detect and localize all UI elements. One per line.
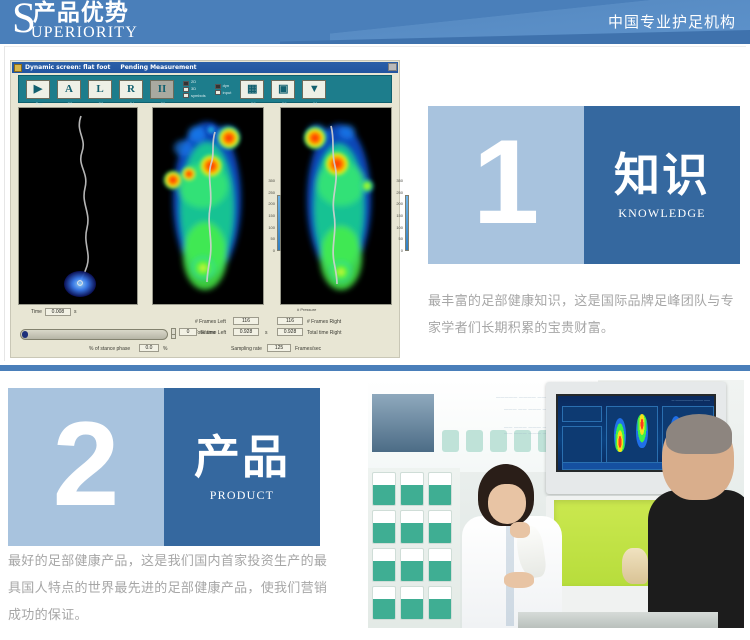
scale-tick: 150 bbox=[268, 214, 275, 218]
poster-figure bbox=[442, 430, 459, 452]
card-number-block: 2 bbox=[8, 388, 164, 546]
view-mode-labels: 2D 3D symbols bbox=[191, 79, 206, 99]
scale-ticks-left: 350 250 200 150 100 50 0 bbox=[268, 179, 275, 253]
frames-left-label: # Frames Left bbox=[195, 319, 226, 325]
input-mode-radios[interactable] bbox=[215, 84, 221, 95]
radio-dyn[interactable] bbox=[215, 84, 221, 89]
toolbar-fkey-label: F3 bbox=[89, 101, 113, 106]
radio-input[interactable] bbox=[215, 90, 221, 95]
card-title-cn: 产品 bbox=[194, 432, 290, 482]
close-icon[interactable] bbox=[388, 63, 397, 71]
page-root: S 产品优势 UPERIORITY 中国专业护足机构 Dynamic scree… bbox=[0, 0, 750, 640]
radio-3d[interactable] bbox=[183, 87, 189, 92]
frame-slider[interactable] bbox=[20, 329, 168, 340]
toolbar-button-save[interactable]: ▣ F9 bbox=[271, 80, 295, 99]
scale-tick: 250 bbox=[396, 191, 403, 195]
frames-right-label: # Frames Right bbox=[307, 319, 341, 325]
scale-tick: 50 bbox=[399, 237, 403, 241]
section-knowledge: Dynamic screen: flat foot Pending Measur… bbox=[0, 48, 750, 360]
photo-customer bbox=[652, 416, 744, 628]
save-icon: ▣ bbox=[278, 84, 288, 95]
scale-tick: 350 bbox=[396, 179, 403, 183]
scale-bar-left bbox=[277, 195, 281, 251]
photo-customer-body bbox=[648, 490, 744, 628]
stance-phase-field[interactable]: 0.0 bbox=[139, 344, 159, 352]
toolbar-button-right-foot[interactable]: R F4 bbox=[119, 80, 143, 99]
toolbar-button-help[interactable]: ▼ F1 bbox=[302, 80, 326, 99]
right-foot-heatmap bbox=[281, 108, 392, 305]
total-time-left-field[interactable]: 0.928 bbox=[233, 328, 259, 336]
cursor-icon: ▶ bbox=[34, 84, 42, 95]
app-title-bar: Dynamic screen: flat foot Pending Measur… bbox=[12, 62, 398, 73]
page-header: S 产品优势 UPERIORITY 中国专业护足机构 bbox=[0, 0, 750, 44]
scale-tick: 50 bbox=[271, 237, 275, 241]
scale-tick: 100 bbox=[268, 226, 275, 230]
poster-image bbox=[372, 394, 434, 452]
scale-tick: 200 bbox=[396, 202, 403, 206]
cop-trajectory-graphic bbox=[19, 108, 138, 305]
help-icon: ▼ bbox=[309, 84, 320, 95]
left-foot-icon: L bbox=[96, 84, 103, 95]
logo-title-cn: 产品优势 bbox=[33, 1, 138, 25]
frame-spinner[interactable] bbox=[171, 328, 176, 339]
sampling-rate-field[interactable]: 125 bbox=[267, 344, 291, 352]
feature-card-knowledge: 1 知识 KNOWLEDGE bbox=[428, 106, 740, 264]
store-consultation-photo: ————— ———— —— ——— —— ——— ——— —— ——— ——— … bbox=[368, 380, 744, 628]
pressure-scale-left: 350 250 200 150 100 50 0 bbox=[259, 179, 281, 257]
toolbar-fkey-label: F1 bbox=[303, 101, 327, 106]
left-foot-heatmap bbox=[153, 108, 264, 305]
scale-tick: 100 bbox=[396, 226, 403, 230]
pressure-scale-right: 350 250 200 150 100 50 0 bbox=[387, 179, 409, 257]
scale-ticks-right: 350 250 200 150 100 50 0 bbox=[396, 179, 403, 253]
scale-tick: 250 bbox=[268, 191, 275, 195]
frame-slider-knob[interactable] bbox=[22, 331, 28, 338]
photo-foot-model bbox=[622, 548, 648, 584]
card-number: 1 bbox=[473, 122, 540, 242]
scale-tick: 0 bbox=[273, 249, 275, 253]
card-title-block: 知识 KNOWLEDGE bbox=[584, 106, 740, 264]
card-title-en: PRODUCT bbox=[210, 488, 274, 503]
toolbar-button-report[interactable]: ▦ F8 bbox=[240, 80, 264, 99]
toolbar-fkey-label: F5 bbox=[151, 101, 175, 106]
logo-text-stack: 产品优势 UPERIORITY bbox=[33, 1, 138, 41]
content-top-rule bbox=[4, 46, 746, 47]
all-feet-icon: A bbox=[65, 84, 73, 95]
scale-tick: 150 bbox=[396, 214, 403, 218]
stance-phase-unit: % bbox=[163, 346, 167, 352]
app-toolbar: ▶ Esc A F2 L F3 R F4 II F5 bbox=[18, 75, 392, 103]
frames-left-field[interactable]: 116 bbox=[233, 317, 259, 325]
radio-label-input: input bbox=[223, 90, 232, 96]
scale-tick: 200 bbox=[268, 202, 275, 206]
card-description-product: 最好的足部健康产品，这是我们国内首家投资生产的最具国人特点的世界最先进的足部健康… bbox=[8, 548, 338, 629]
feature-card-product: 2 产品 PRODUCT bbox=[8, 388, 320, 546]
radio-label-3d: 3D bbox=[191, 86, 206, 92]
toolbar-fkey-label: F2 bbox=[58, 101, 82, 106]
time-readout: Time 0.008 s bbox=[31, 307, 141, 316]
poster-figure bbox=[466, 430, 483, 452]
sampling-rate-label: Sampling rate bbox=[231, 346, 262, 352]
software-screenshot: Dynamic screen: flat foot Pending Measur… bbox=[10, 60, 400, 358]
scale-tick: 350 bbox=[268, 179, 275, 183]
toolbar-button-all-feet[interactable]: A F2 bbox=[57, 80, 81, 99]
photo-consultant-face-top bbox=[488, 484, 526, 524]
input-mode-labels: dyn input bbox=[223, 83, 232, 96]
cop-trajectory-panel[interactable] bbox=[18, 107, 138, 305]
card-title-block: 产品 PRODUCT bbox=[164, 388, 320, 546]
toolbar-fkey-label: F4 bbox=[120, 101, 144, 106]
app-subtitle: Pending Measurement bbox=[120, 64, 196, 71]
photo-counter bbox=[518, 612, 718, 628]
view-mode-radio-group[interactable]: 2D 3D symbols bbox=[183, 77, 206, 101]
radio-label-2d: 2D bbox=[191, 79, 206, 85]
app-title: Dynamic screen: flat foot bbox=[25, 64, 110, 71]
toolbar-button-cursor[interactable]: ▶ Esc bbox=[26, 80, 50, 99]
scale-bar-right bbox=[405, 195, 409, 251]
pressure-plots bbox=[18, 107, 392, 305]
left-foot-pressure-panel[interactable] bbox=[152, 107, 264, 305]
total-time-right-label: Total time Right bbox=[307, 330, 341, 336]
radio-2d[interactable] bbox=[183, 81, 189, 86]
toolbar-button-pause[interactable]: II F5 bbox=[150, 80, 174, 99]
input-mode-radio-group[interactable]: dyn input bbox=[215, 77, 232, 101]
card-number-block: 1 bbox=[428, 106, 584, 264]
card-description-knowledge: 最丰富的足部健康知识，这是国际品牌足峰团队与专家学者们长期积累的宝贵财富。 bbox=[428, 288, 740, 342]
view-mode-radios[interactable] bbox=[183, 81, 189, 98]
time-value-field[interactable]: 0.008 bbox=[45, 308, 71, 316]
screen-header-text: — —————— ——— —— bbox=[671, 398, 710, 402]
card-title-en: KNOWLEDGE bbox=[618, 206, 705, 221]
card-title-cn: 知识 bbox=[614, 150, 710, 200]
report-icon: ▦ bbox=[247, 84, 257, 95]
section-divider bbox=[0, 365, 750, 371]
photo-customer-hair bbox=[666, 414, 732, 454]
photo-hand-lower bbox=[504, 572, 534, 588]
sampling-rate-unit: Frames/sec bbox=[295, 346, 321, 352]
toolbar-fkey-label: F9 bbox=[272, 101, 296, 106]
right-foot-icon: R bbox=[127, 84, 135, 95]
photo-hand-upper bbox=[510, 522, 530, 538]
time-unit: s bbox=[74, 309, 77, 315]
frame-label: Frame bbox=[201, 330, 215, 336]
radio-symbols[interactable] bbox=[183, 93, 189, 98]
pressure-axis-caption: # Pressure bbox=[297, 307, 316, 312]
logo-title-en: UPERIORITY bbox=[31, 25, 138, 41]
total-time-unit: s bbox=[265, 330, 268, 336]
frames-right-field[interactable]: 116 bbox=[277, 317, 303, 325]
toolbar-fkey-label: F8 bbox=[241, 101, 265, 106]
header-tagline: 中国专业护足机构 bbox=[608, 11, 736, 32]
total-time-right-field[interactable]: 0.928 bbox=[277, 328, 303, 336]
radio-label-symbols: symbols bbox=[191, 93, 206, 99]
frame-value-field[interactable]: 0 bbox=[179, 328, 197, 336]
toolbar-fkey-label: Esc bbox=[27, 101, 51, 106]
radio-label-dyn: dyn bbox=[223, 83, 232, 89]
photo-consultant bbox=[456, 464, 568, 628]
stance-phase-label: % of stance phase bbox=[89, 346, 130, 352]
card-number: 2 bbox=[53, 404, 120, 524]
brand-logo: S 产品优势 UPERIORITY bbox=[12, 0, 138, 44]
pause-icon: II bbox=[158, 84, 167, 95]
app-icon bbox=[14, 64, 22, 72]
photo-product-shelves bbox=[368, 468, 460, 628]
time-label: Time bbox=[31, 309, 42, 315]
scale-tick: 0 bbox=[401, 249, 403, 253]
toolbar-button-left-foot[interactable]: L F3 bbox=[88, 80, 112, 99]
right-foot-pressure-panel[interactable] bbox=[280, 107, 392, 305]
